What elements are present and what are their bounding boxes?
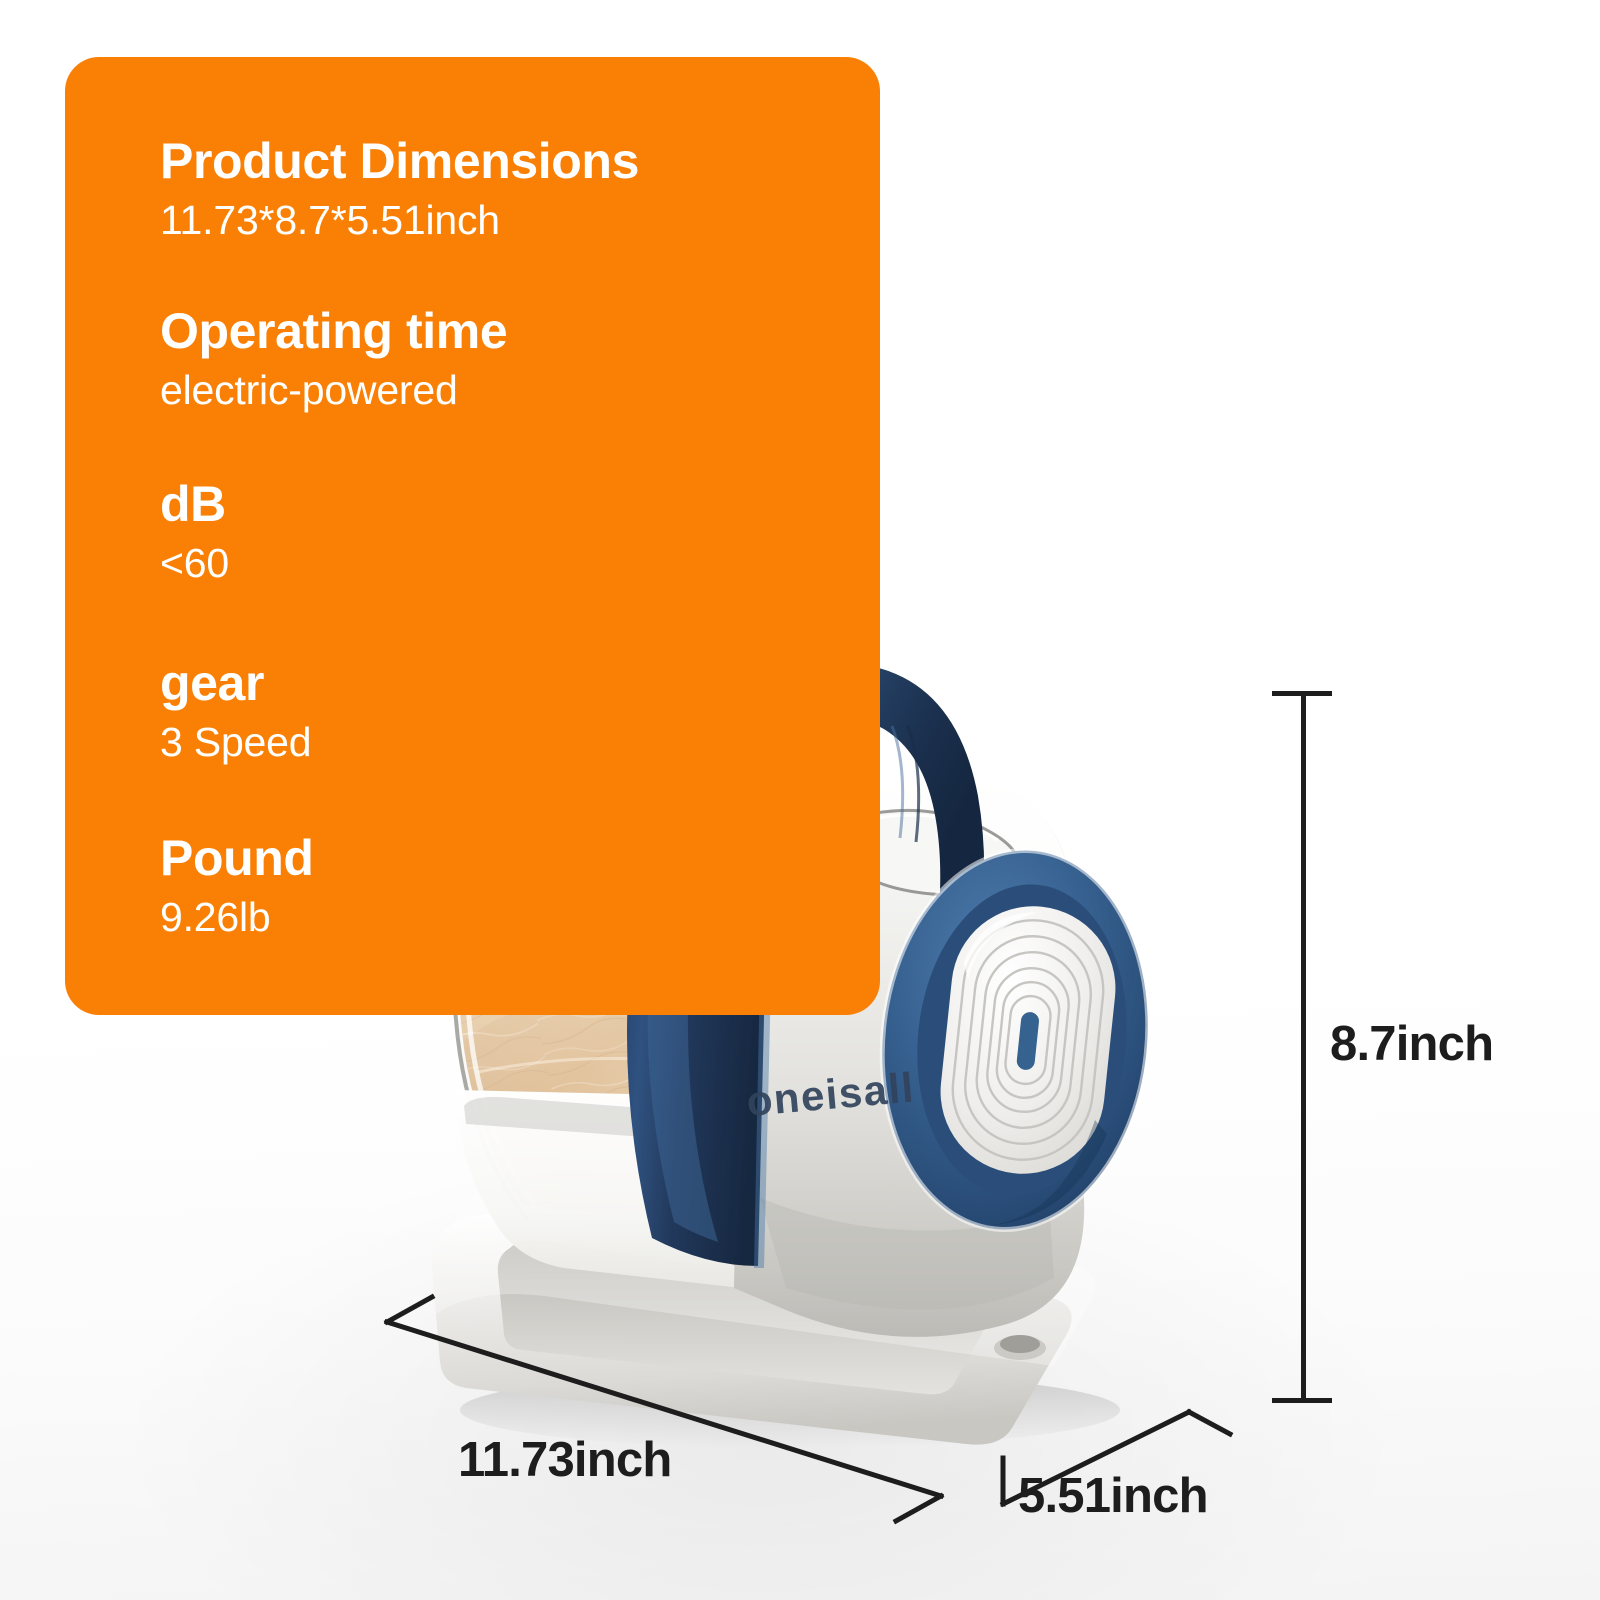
height-dimension-line bbox=[1301, 693, 1306, 1403]
width-dimension-label: 11.73inch bbox=[458, 1432, 671, 1488]
height-dimension-label: 8.7inch bbox=[1330, 1016, 1493, 1072]
spec-item-gear: gear 3 Speed bbox=[160, 657, 860, 765]
depth-dimension-label: 5.51inch bbox=[1018, 1468, 1208, 1524]
spec-card: Product Dimensions 11.73*8.7*5.51inch Op… bbox=[65, 57, 880, 1015]
spec-value-gear: 3 Speed bbox=[160, 720, 860, 766]
spec-item-db: dB <60 bbox=[160, 478, 860, 586]
height-dimension-cap-bottom bbox=[1272, 1398, 1332, 1403]
spec-title-operating-time: Operating time bbox=[160, 305, 860, 358]
spec-item-operating-time: Operating time electric-powered bbox=[160, 305, 860, 413]
spec-title-product-dimensions: Product Dimensions bbox=[160, 135, 860, 188]
spec-value-product-dimensions: 11.73*8.7*5.51inch bbox=[160, 198, 860, 244]
spec-value-operating-time: electric-powered bbox=[160, 368, 860, 414]
spec-item-product-dimensions: Product Dimensions 11.73*8.7*5.51inch bbox=[160, 135, 860, 243]
infographic-canvas: oneisall Product Dimensions 11.73*8.7*5.… bbox=[0, 0, 1600, 1600]
spec-item-pound: Pound 9.26lb bbox=[160, 832, 860, 940]
spec-title-pound: Pound bbox=[160, 832, 860, 885]
height-dimension-cap-top bbox=[1272, 691, 1332, 696]
spec-value-pound: 9.26lb bbox=[160, 895, 860, 941]
spec-title-gear: gear bbox=[160, 657, 860, 710]
spec-value-db: <60 bbox=[160, 541, 860, 587]
spec-title-db: dB bbox=[160, 478, 860, 531]
